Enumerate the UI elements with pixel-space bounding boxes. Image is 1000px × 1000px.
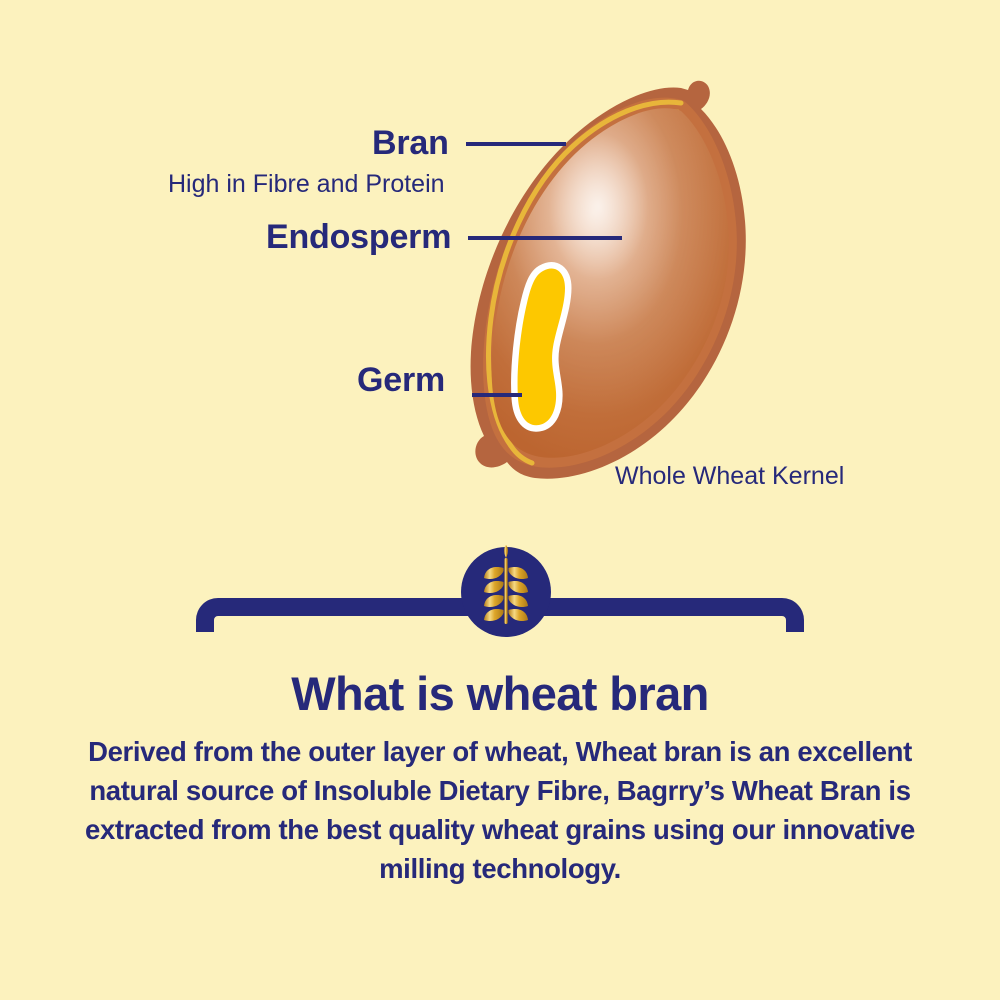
section-divider	[0, 525, 1000, 655]
leader-line-bran	[466, 142, 566, 146]
leader-line-germ	[472, 393, 522, 397]
page-title: What is wheat bran	[0, 668, 1000, 720]
wheat-kernel-diagram: Bran High in Fibre and Protein Endosperm…	[0, 0, 1000, 520]
leader-line-endosperm	[468, 236, 622, 240]
wheat-kernel-illustration	[455, 55, 765, 495]
callout-note-bran: High in Fibre and Protein	[168, 170, 445, 199]
content-block: What is wheat bran Derived from the oute…	[0, 668, 1000, 888]
infographic-page: Bran High in Fibre and Protein Endosperm…	[0, 0, 1000, 1000]
callout-label-endosperm: Endosperm	[266, 218, 451, 257]
divider-graphic	[0, 525, 1000, 655]
callout-label-bran: Bran	[372, 124, 449, 163]
callout-label-germ: Germ	[357, 361, 445, 400]
body-paragraph: Derived from the outer layer of wheat, W…	[70, 732, 930, 888]
kernel-caption: Whole Wheat Kernel	[615, 462, 844, 491]
